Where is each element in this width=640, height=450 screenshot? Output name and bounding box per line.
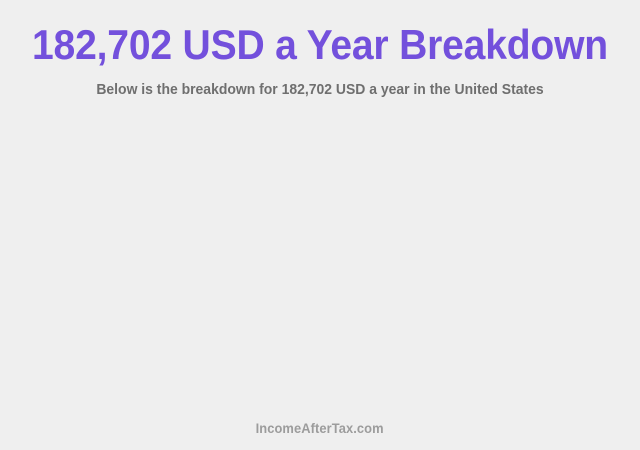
chart-area [0,118,640,408]
page-subtitle: Below is the breakdown for 182,702 USD a… [22,68,617,99]
income-breakdown-page: 182,702 USD a Year Breakdown Below is th… [0,0,640,450]
page-title: 182,702 USD a Year Breakdown [22,0,617,68]
page-header: 182,702 USD a Year Breakdown Below is th… [0,0,640,99]
page-footer: IncomeAfterTax.com [0,408,640,450]
site-watermark: IncomeAfterTax.com [256,408,384,436]
chart-canvas [0,118,640,408]
